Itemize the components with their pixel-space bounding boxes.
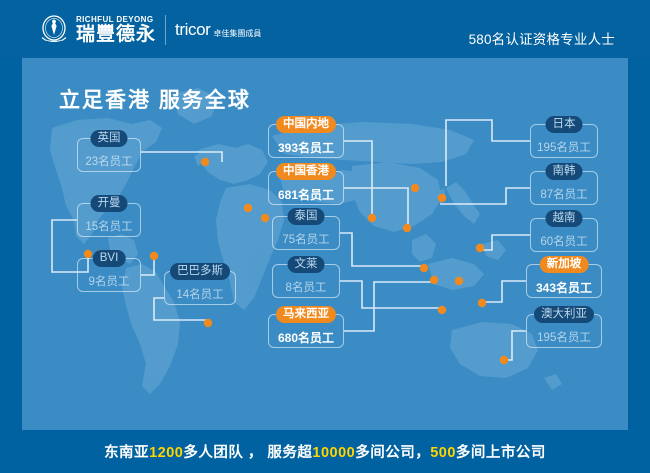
- country-name-pill: 日本: [546, 116, 583, 133]
- footer-segment-2: 多人团队 ， 服务超: [183, 445, 312, 461]
- logo-divider: [165, 15, 166, 45]
- map-dot-14: [476, 244, 484, 252]
- country-name-pill: 巴巴多斯: [170, 263, 230, 280]
- country-employee-count: 343名员工: [536, 282, 592, 294]
- country-name-pill: 文莱: [288, 256, 325, 273]
- country-label-4[interactable]: 中国内地393名员工: [268, 124, 344, 158]
- country-employee-count: 75名员工: [282, 234, 329, 246]
- page-title: 立足香港 服务全球: [59, 84, 251, 114]
- country-name-pill: 越南: [546, 210, 583, 227]
- footer-segment-0: 东南亚: [104, 445, 149, 461]
- map-dot-6: [261, 214, 269, 222]
- map-dot-3: [201, 158, 209, 166]
- map-dot-5: [244, 204, 252, 212]
- country-label-9[interactable]: 日本195名员工: [530, 124, 598, 158]
- footer-segment-3: 10000: [312, 445, 355, 461]
- country-name-pill: 南韩: [546, 163, 583, 180]
- country-name-pill: 马来西亚: [276, 306, 336, 323]
- country-name-pill: 澳大利亚: [534, 306, 594, 323]
- footer-segment-1: 1200: [149, 445, 183, 461]
- country-label-6[interactable]: 泰国75名员工: [272, 216, 340, 250]
- map-dot-2: [150, 252, 158, 260]
- country-employee-count: 680名员工: [278, 332, 334, 344]
- partner-subtitle: 卓佳集團成員: [213, 28, 261, 39]
- country-label-12[interactable]: 新加坡343名员工: [526, 264, 602, 298]
- map-dot-4: [204, 319, 212, 327]
- map-dot-16: [438, 306, 446, 314]
- country-label-2[interactable]: BVI9名员工: [77, 258, 141, 292]
- country-label-10[interactable]: 南韩87名员工: [530, 171, 598, 205]
- country-employee-count: 8名员工: [286, 282, 327, 294]
- country-name-pill: 中国内地: [276, 116, 336, 133]
- country-label-8[interactable]: 马来西亚680名员工: [268, 314, 344, 348]
- country-employee-count: 60名员工: [540, 236, 587, 248]
- country-employee-count: 393名员工: [278, 142, 334, 154]
- map-dot-11: [420, 264, 428, 272]
- country-name-pill: 中国香港: [276, 163, 336, 180]
- partner-logo-text: tricor: [175, 21, 210, 39]
- footer-segment-4: 多间公司，: [355, 445, 430, 461]
- country-label-7[interactable]: 文莱8名员工: [272, 264, 340, 298]
- country-name-pill: 开曼: [91, 195, 128, 212]
- country-employee-count: 195名员工: [537, 332, 591, 344]
- footer-segment-5: 500: [430, 445, 456, 461]
- map-dot-13: [455, 277, 463, 285]
- country-employee-count: 9名员工: [89, 276, 130, 288]
- country-employee-count: 15名员工: [85, 221, 132, 233]
- country-employee-count: 14名员工: [176, 289, 223, 301]
- crest-icon: [38, 15, 70, 45]
- country-label-0[interactable]: 英国23名员工: [77, 138, 141, 172]
- footer-segment-6: 多间上市公司: [456, 445, 546, 461]
- footer-banner: 东南亚1200多人团队 ， 服务超10000多间公司，500多间上市公司: [0, 430, 650, 473]
- country-employee-count: 195名员工: [537, 142, 591, 154]
- map-dot-17: [500, 356, 508, 364]
- map-dot-9: [438, 194, 446, 202]
- country-name-pill: BVI: [93, 250, 126, 267]
- map-panel: 立足香港 服务全球 英国23名员工开曼15名员工BVI9名员工巴巴多斯14名员工…: [22, 58, 628, 430]
- brand-logo[interactable]: RICHFUL DEYONG 瑞豐德永 tricor 卓佳集團成員: [38, 14, 261, 46]
- map-dot-10: [411, 184, 419, 192]
- country-employee-count: 23名员工: [85, 156, 132, 168]
- logo-chinese-name: 瑞豐德永: [76, 24, 156, 45]
- map-dot-12: [430, 276, 438, 284]
- country-name-pill: 新加坡: [540, 256, 589, 273]
- country-name-pill: 泰国: [288, 208, 325, 225]
- map-dot-7: [368, 214, 376, 222]
- map-dot-15: [478, 299, 486, 307]
- country-label-11[interactable]: 越南60名员工: [530, 218, 598, 252]
- country-employee-count: 87名员工: [540, 189, 587, 201]
- page-header: RICHFUL DEYONG 瑞豐德永 tricor 卓佳集團成員 580名认证…: [0, 0, 650, 58]
- country-label-3[interactable]: 巴巴多斯14名员工: [164, 271, 236, 305]
- country-employee-count: 681名员工: [278, 189, 334, 201]
- country-label-1[interactable]: 开曼15名员工: [77, 203, 141, 237]
- map-dot-0: [84, 250, 92, 258]
- header-stat-text: 580名认证资格专业人士: [469, 28, 615, 48]
- country-name-pill: 英国: [91, 130, 128, 147]
- footer-summary-text: 东南亚1200多人团队 ， 服务超10000多间公司，500多间上市公司: [104, 441, 546, 462]
- country-label-5[interactable]: 中国香港681名员工: [268, 171, 344, 205]
- map-dot-8: [403, 224, 411, 232]
- logo-english-name: RICHFUL DEYONG: [76, 15, 156, 24]
- country-label-13[interactable]: 澳大利亚195名员工: [526, 314, 602, 348]
